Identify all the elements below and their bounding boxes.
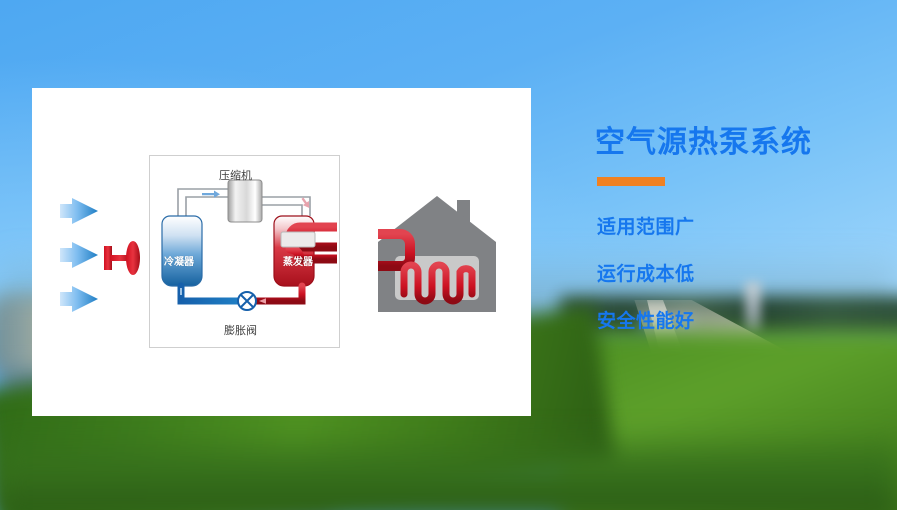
airflow-arrow-2 [60,242,98,268]
fan-icon [104,238,142,278]
label-condenser: 冷凝器 [164,258,194,268]
label-compressor: 压缩机 [219,170,252,181]
airflow-arrow-1 [60,198,98,224]
page-title: 空气源热泵系统 [595,126,885,161]
feature-list: 适用范围广 运行成本低 安全性能好 [595,212,885,333]
label-evaporator: 蒸发器 [283,258,313,268]
evaporator-coil-plate [281,232,315,247]
feature-item-3: 安全性能好 [597,306,885,333]
refrigeration-cycle-diagram [149,155,340,348]
grass-foreground [0,430,897,510]
feature-item-2: 运行成本低 [597,259,885,286]
label-expansion-valve: 膨胀阀 [224,325,257,336]
slide-canvas: 压缩机 膨胀阀 冷凝器 蒸发器 空气源热泵系统 适用范围广 运行成本低 安全性能… [0,0,897,510]
compressor-cylinder-icon [228,180,262,222]
condenser-vessel-icon [162,216,202,286]
title-underline-rule [597,177,665,186]
expansion-valve-icon [238,292,256,310]
headline-block: 空气源热泵系统 适用范围广 运行成本低 安全性能好 [595,126,885,333]
house-icon [378,196,496,312]
airflow-arrow-3 [60,286,98,312]
feature-item-1: 适用范围广 [597,212,885,239]
